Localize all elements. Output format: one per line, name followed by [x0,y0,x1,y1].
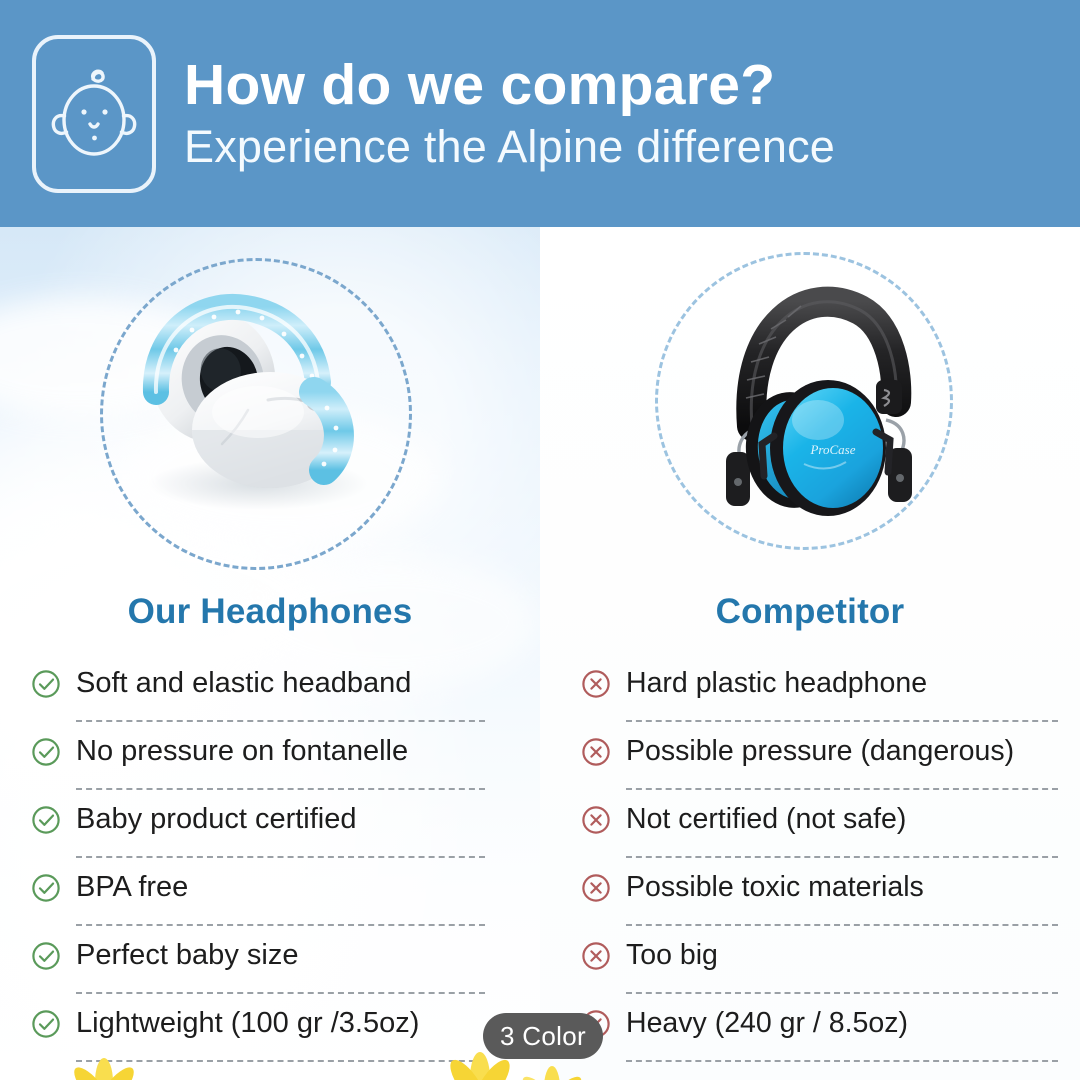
product-image-competitor: ProCase [700,268,930,536]
page-title: How do we compare? [184,55,835,115]
list-item: BPA free [30,868,485,936]
list-item-label: Possible toxic materials [626,868,924,904]
list-item-label: Possible pressure (dangerous) [626,732,1014,768]
list-item-label: Too big [626,936,718,972]
page-subtitle: Experience the Alpine difference [184,122,835,172]
list-item: Heavy (240 gr / 8.5oz) [580,1004,1058,1072]
header-text-block: How do we compare? Experience the Alpine… [176,55,835,172]
list-item-label: Hard plastic headphone [626,664,927,700]
color-count-badge-label: 3 Color [500,1021,586,1052]
color-count-badge[interactable]: 3 Color [483,1013,603,1059]
list-item-label: Not certified (not safe) [626,800,906,836]
feature-list-competitor: Hard plastic headphone Possible pressure… [580,664,1058,1072]
x-circle-icon [580,664,626,705]
header-banner: How do we compare? Experience the Alpine… [0,0,1080,227]
list-item: Not certified (not safe) [580,800,1058,868]
check-circle-icon [30,1004,76,1045]
list-item: Hard plastic headphone [580,664,1058,732]
list-item-label: No pressure on fontanelle [76,732,408,768]
list-item: Soft and elastic headband [30,664,485,732]
row-divider [626,788,1058,790]
x-circle-icon [580,868,626,909]
list-item: Perfect baby size [30,936,485,1004]
check-circle-icon [30,936,76,977]
row-divider [76,856,485,858]
check-circle-icon [30,732,76,773]
list-item-label: Soft and elastic headband [76,664,411,700]
list-item: Baby product certified [30,800,485,868]
list-item-label: Baby product certified [76,800,356,836]
svg-text:ProCase: ProCase [809,442,855,457]
list-item: No pressure on fontanelle [30,732,485,800]
row-divider [626,856,1058,858]
row-divider [626,924,1058,926]
row-divider [76,924,485,926]
row-divider [76,992,485,994]
comparison-infographic: How do we compare? Experience the Alpine… [0,0,1080,1080]
x-circle-icon [580,732,626,773]
list-item: Too big [580,936,1058,1004]
check-circle-icon [30,664,76,705]
row-divider [626,720,1058,722]
list-item-label: BPA free [76,868,188,904]
check-circle-icon [30,800,76,841]
x-circle-icon [580,800,626,841]
row-divider [76,788,485,790]
sunflower-decoration [34,1040,184,1080]
list-item-label: Perfect baby size [76,936,298,972]
baby-face-icon [32,35,156,193]
check-circle-icon [30,868,76,909]
column-heading-ours: Our Headphones [0,592,540,632]
product-image-ours [118,272,398,522]
row-divider [626,1060,1058,1062]
feature-list-ours: Soft and elastic headband No pressure on… [30,664,485,1072]
list-item-label: Lightweight (100 gr /3.5oz) [76,1004,419,1040]
row-divider [76,720,485,722]
column-heading-competitor: Competitor [540,592,1080,632]
row-divider [626,992,1058,994]
list-item: Possible pressure (dangerous) [580,732,1058,800]
list-item: Possible toxic materials [580,868,1058,936]
x-circle-icon [580,936,626,977]
list-item-label: Heavy (240 gr / 8.5oz) [626,1004,908,1040]
